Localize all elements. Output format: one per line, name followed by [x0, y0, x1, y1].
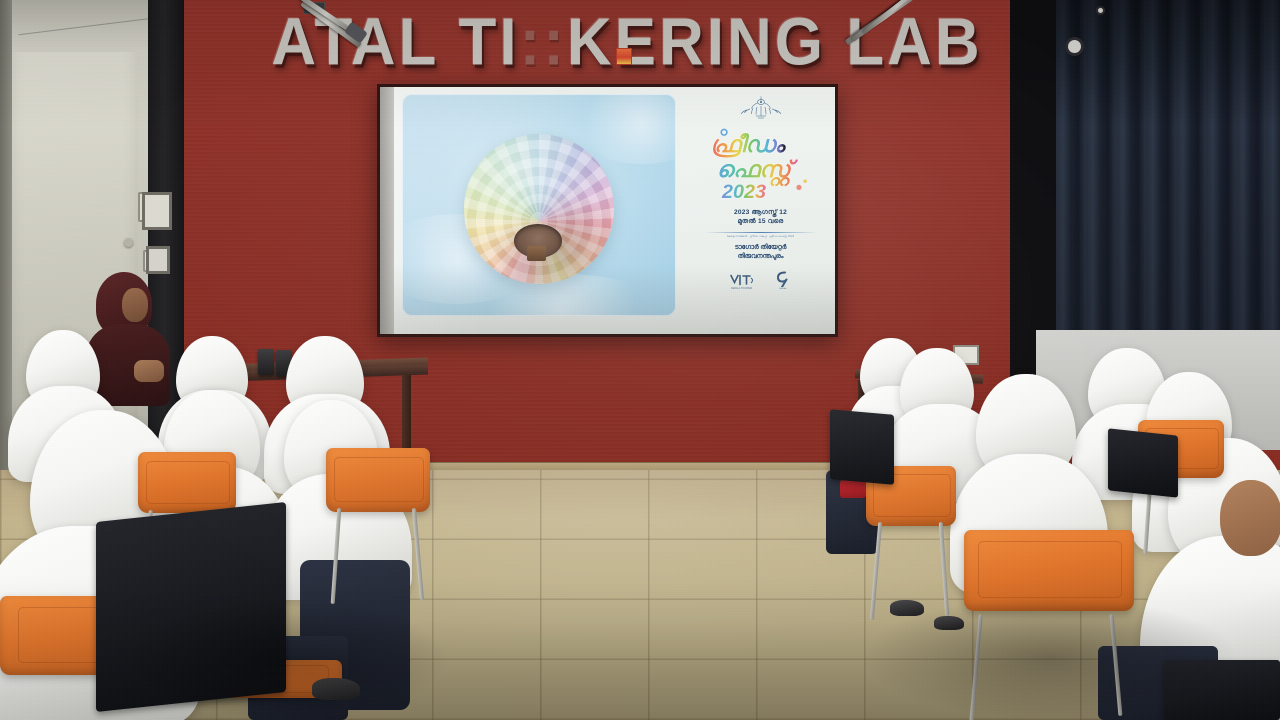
poster-sponsor-logos: KERALA TOURISM വർഷം: [729, 271, 793, 291]
poster-date-block: 2023 ആഗസ്ത് 12 മുതൽ 15 വരെ: [734, 209, 787, 227]
track-light-icon-right: [846, 0, 936, 62]
poster-venue-block: ടാഗോർ തിയേറ്റർ തിരുവനന്തപുരം: [735, 244, 787, 262]
laptop-right-2[interactable]: [1108, 428, 1178, 497]
sponsor-logo-secondary-caption: വർഷം: [773, 287, 793, 290]
poster-venue-line-1: ടാഗോർ തിയേറ്റർ: [735, 244, 787, 253]
floor-shadow-right: [860, 596, 1240, 720]
sponsor-logo-ktdc-caption: KERALA TOURISM: [729, 287, 755, 290]
ceiling-seam: [18, 18, 152, 35]
poster-divider: [705, 232, 817, 233]
svg-text:ഫ്രീഡം: ഫ്രീഡം: [710, 131, 786, 158]
poster-date-line-1: 2023 ആഗസ്ത് 12: [734, 209, 787, 218]
poster-microtext: കേരള സർക്കാർ · ടൂറിസം വകുപ്പ് · ഫ്രീഡം ഫ…: [727, 235, 794, 238]
floor-shadow-left: [120, 600, 450, 720]
sign-sticker: [616, 48, 632, 65]
teacher-face: [122, 288, 148, 322]
kerala-state-emblem-icon: [738, 95, 784, 122]
door-knob: [124, 238, 133, 247]
red-bag[interactable]: [840, 480, 866, 498]
sponsor-logo-secondary: വർഷം: [773, 271, 793, 291]
teacher-hands: [134, 360, 164, 382]
sponsor-logo-ktdc: KERALA TOURISM: [729, 273, 755, 291]
track-light-icon-left: [300, 0, 380, 54]
poster-venue-line-2: തിരുവനന്തപുരം: [735, 253, 787, 262]
projection-screen-surface: ഫ്രീഡം ഫെസ്റ്റ് 2023 2023 ആഗസ്ത് 12 മുതൽ…: [380, 87, 835, 334]
slide-poster-panel: ഫ്രീഡം ഫെസ്റ്റ് 2023 2023 ആഗസ്ത് 12 മുതൽ…: [690, 91, 831, 326]
laptop-right-1[interactable]: [830, 409, 894, 485]
ceiling-panel: [0, 0, 168, 52]
student-face-right: [1220, 480, 1280, 556]
hot-air-balloon-envelope: [464, 134, 614, 284]
sign-text-faded: ::: [520, 4, 567, 81]
slide-photo-hot-air-balloon: [402, 94, 676, 316]
screen-edge-strip: [380, 87, 394, 334]
wall-picture-1: [142, 192, 172, 230]
freedom-fest-logo: ഫ്രീഡം ഫെസ്റ്റ് 2023: [706, 125, 816, 203]
poster-date-line-2: മുതൽ 15 വരെ: [734, 218, 787, 227]
classroom-photo: ATAL TI::KERING LAB: [0, 0, 1280, 720]
hot-air-balloon-basket: [527, 246, 546, 261]
wall-picture-2: [146, 246, 170, 274]
ceiling-spotlight-icon: [1068, 40, 1081, 53]
svg-text:2023: 2023: [721, 181, 766, 203]
desktop-speaker-left: [258, 349, 274, 375]
projection-screen: ഫ്രീഡം ഫെസ്റ്റ് 2023 2023 ആഗസ്ത് 12 മുതൽ…: [377, 84, 838, 337]
chair-left-2[interactable]: [326, 448, 430, 548]
wall-edge: [0, 0, 12, 470]
ceiling-sensor-icon: [1098, 8, 1103, 13]
